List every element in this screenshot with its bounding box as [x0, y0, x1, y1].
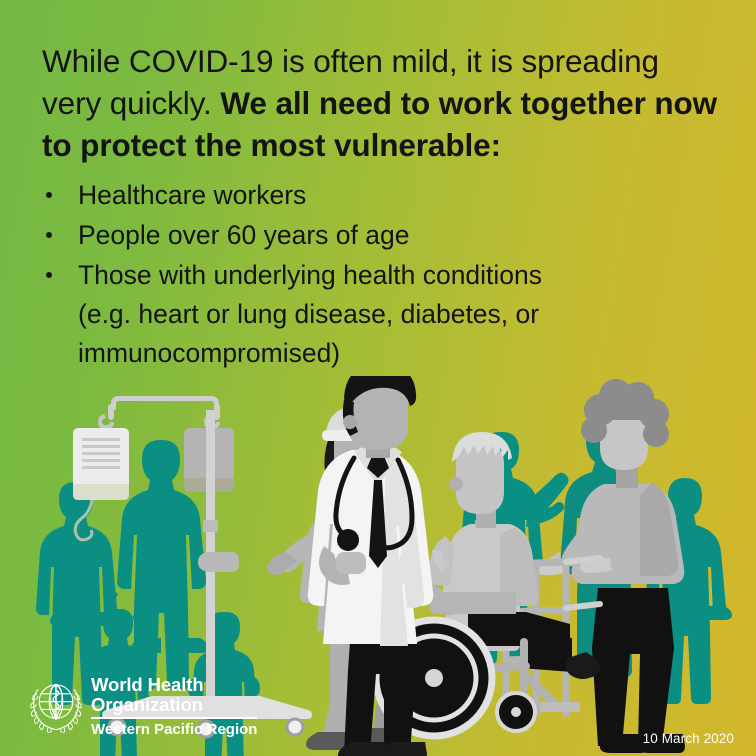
- poster-canvas: While COVID-19 is often mild, it is spre…: [0, 0, 756, 756]
- list-item: Healthcare workers: [42, 176, 722, 215]
- list-item-continuation-2: immunocompromised): [78, 334, 722, 373]
- who-line-2: Organization: [91, 695, 257, 715]
- list-item-label: Those with underlying health conditions: [78, 260, 542, 290]
- list-item: People over 60 years of age: [42, 216, 722, 255]
- who-divider: [91, 717, 257, 719]
- bullet-dot-icon: [46, 192, 52, 198]
- text-block: While COVID-19 is often mild, it is spre…: [0, 0, 756, 374]
- vulnerable-groups-list: Healthcare workers People over 60 years …: [42, 176, 722, 373]
- list-item: Those with underlying health conditions …: [42, 256, 722, 373]
- page-title: While COVID-19 is often mild, it is spre…: [42, 40, 722, 166]
- who-region-label: Western Pacific Region: [91, 721, 257, 738]
- who-wordmark: World Health Organization Western Pacifi…: [91, 675, 257, 738]
- bullet-dot-icon: [46, 272, 52, 278]
- date-stamp: 10 March 2020: [643, 731, 734, 746]
- list-item-label: People over 60 years of age: [78, 220, 409, 250]
- list-item-continuation-1: (e.g. heart or lung disease, diabetes, o…: [78, 295, 722, 334]
- list-item-label: Healthcare workers: [78, 180, 306, 210]
- who-logo: World Health Organization Western Pacifi…: [28, 675, 257, 738]
- who-emblem-icon: [28, 677, 84, 733]
- bullet-dot-icon: [46, 232, 52, 238]
- who-line-1: World Health: [91, 675, 257, 695]
- headline-colon: :: [491, 127, 501, 163]
